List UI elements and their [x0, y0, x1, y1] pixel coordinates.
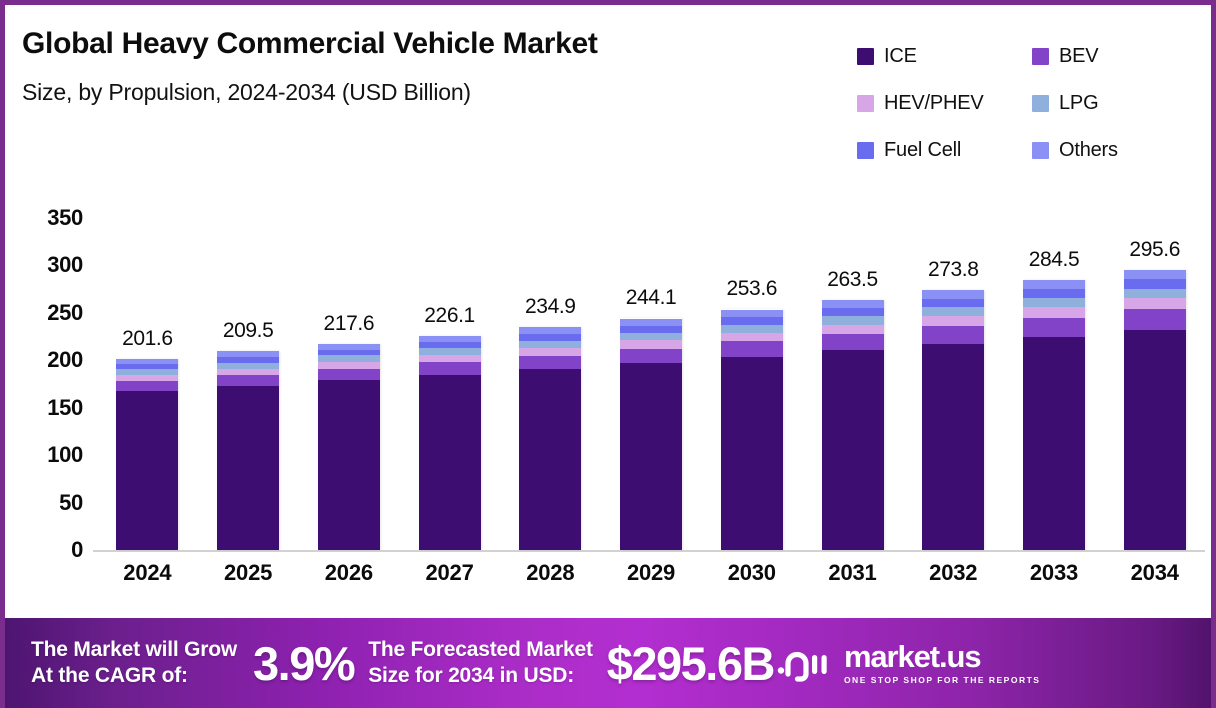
- forecast-label: The Forecasted Market Size for 2034 in U…: [368, 637, 593, 688]
- legend-swatch-icon: [1032, 48, 1049, 65]
- bar-column[interactable]: 244.1: [601, 200, 702, 550]
- brand-logo[interactable]: market.us ONE STOP SHOP FOR THE REPORTS: [776, 641, 1041, 685]
- cagr-label-line1: The Market will Grow: [31, 637, 237, 663]
- x-axis: 2024202520262027202820292030203120322033…: [97, 560, 1205, 586]
- bar-segment-lpg[interactable]: [620, 333, 682, 340]
- legend-item-lpg[interactable]: LPG: [1032, 80, 1207, 127]
- bar-segment-lpg[interactable]: [1023, 298, 1085, 307]
- bar-segment-ice[interactable]: [620, 363, 682, 550]
- bar-segment-others[interactable]: [922, 290, 984, 299]
- bar-column[interactable]: 295.6: [1104, 200, 1205, 550]
- bar-segment-others[interactable]: [721, 310, 783, 318]
- bar-segment-lpg[interactable]: [922, 307, 984, 316]
- x-axis-tick-label: 2034: [1104, 560, 1205, 586]
- x-axis-tick-label: 2031: [802, 560, 903, 586]
- bar-segment-ice[interactable]: [822, 350, 884, 550]
- bar-segment-hev-phev[interactable]: [822, 325, 884, 334]
- bar-segment-bev[interactable]: [1023, 318, 1085, 337]
- x-axis-tick-label: 2027: [399, 560, 500, 586]
- forecast-label-line2: Size for 2034 in USD:: [368, 663, 593, 689]
- bar-value-label: 226.1: [399, 304, 500, 328]
- legend-swatch-icon: [857, 48, 874, 65]
- cagr-label: The Market will Grow At the CAGR of:: [31, 637, 237, 688]
- bar-segment-hev-phev[interactable]: [1023, 307, 1085, 317]
- brand-text: market.us ONE STOP SHOP FOR THE REPORTS: [844, 641, 1041, 685]
- bar-column[interactable]: 226.1: [399, 200, 500, 550]
- y-axis-tick-label: 200: [47, 347, 83, 373]
- y-axis: 350300250200150100500: [15, 200, 83, 545]
- bar-segment-lpg[interactable]: [419, 348, 481, 355]
- bar-segment-hev-phev[interactable]: [1124, 298, 1186, 309]
- bar-segment-lpg[interactable]: [721, 325, 783, 333]
- y-axis-tick-label: 100: [47, 442, 83, 468]
- bar-segment-hev-phev[interactable]: [519, 348, 581, 356]
- bar-column[interactable]: 273.8: [903, 200, 1004, 550]
- bar-column[interactable]: 284.5: [1004, 200, 1105, 550]
- forecast-value: $295.6B: [607, 636, 774, 691]
- bar-segment-others[interactable]: [519, 327, 581, 334]
- bar-segment-others[interactable]: [620, 319, 682, 326]
- x-axis-tick-label: 2028: [500, 560, 601, 586]
- legend-item-label: LPG: [1059, 92, 1098, 115]
- bar-segment-ice[interactable]: [1124, 330, 1186, 550]
- bar-segment-bev[interactable]: [822, 334, 884, 351]
- bar-stack[interactable]: [318, 344, 380, 550]
- y-axis-tick-label: 300: [47, 252, 83, 278]
- legend-item-label: Others: [1059, 139, 1118, 162]
- bar-segment-ice[interactable]: [116, 391, 178, 550]
- bar-stack[interactable]: [620, 318, 682, 550]
- cagr-value: 3.9%: [253, 636, 354, 691]
- infographic-root: Global Heavy Commercial Vehicle Market S…: [0, 0, 1216, 708]
- bar-segment-lpg[interactable]: [1124, 289, 1186, 298]
- bar-column[interactable]: 263.5: [802, 200, 903, 550]
- bar-segment-ice[interactable]: [721, 357, 783, 550]
- page-subtitle: Size, by Propulsion, 2024-2034 (USD Bill…: [22, 79, 471, 106]
- bar-segment-ice[interactable]: [318, 380, 380, 550]
- bar-stack[interactable]: [721, 309, 783, 550]
- bar-segment-bev[interactable]: [217, 375, 279, 386]
- y-axis-tick-label: 0: [71, 537, 83, 563]
- bar-stack[interactable]: [822, 300, 884, 550]
- x-axis-tick-label: 2025: [198, 560, 299, 586]
- bar-segment-bev[interactable]: [318, 369, 380, 381]
- bar-segment-hev-phev[interactable]: [922, 316, 984, 326]
- bar-segment-bev[interactable]: [922, 326, 984, 344]
- bar-value-label: 244.1: [601, 286, 702, 310]
- bar-value-label: 263.5: [802, 268, 903, 292]
- legend-item-label: HEV/PHEV: [884, 92, 984, 115]
- bar-value-label: 234.9: [500, 295, 601, 319]
- bar-segment-ice[interactable]: [1023, 337, 1085, 550]
- bar-column[interactable]: 253.6: [701, 200, 802, 550]
- legend-swatch-icon: [857, 142, 874, 159]
- bar-series-container: 201.6209.5217.6226.1234.9244.1253.6263.5…: [97, 200, 1205, 550]
- legend-item-others[interactable]: Others: [1032, 127, 1207, 174]
- legend-item-hev-phev[interactable]: HEV/PHEV: [857, 80, 1032, 127]
- y-axis-tick-label: 250: [47, 300, 83, 326]
- bar-segment-bev[interactable]: [620, 349, 682, 363]
- bar-segment-ice[interactable]: [519, 369, 581, 550]
- bar-column[interactable]: 209.5: [198, 200, 299, 550]
- bar-column[interactable]: 217.6: [298, 200, 399, 550]
- page-title: Global Heavy Commercial Vehicle Market: [22, 27, 598, 61]
- bar-segment-fuel-cell[interactable]: [1124, 279, 1186, 289]
- bar-segment-hev-phev[interactable]: [721, 333, 783, 342]
- brand-name: market.us: [844, 641, 1041, 672]
- bar-segment-fuel-cell[interactable]: [922, 299, 984, 307]
- footer-banner: The Market will Grow At the CAGR of: 3.9…: [5, 618, 1216, 708]
- bar-value-label: 284.5: [1004, 248, 1105, 272]
- bar-segment-ice[interactable]: [922, 344, 984, 550]
- bar-segment-lpg[interactable]: [822, 316, 884, 324]
- bar-segment-others[interactable]: [822, 300, 884, 308]
- bar-segment-ice[interactable]: [419, 375, 481, 550]
- bar-value-label: 295.6: [1104, 238, 1205, 262]
- x-axis-tick-label: 2033: [1004, 560, 1105, 586]
- bar-segment-bev[interactable]: [116, 381, 178, 391]
- legend-item-label: ICE: [884, 45, 917, 68]
- bar-value-label: 217.6: [298, 312, 399, 336]
- bar-value-label: 253.6: [701, 277, 802, 301]
- bar-stack[interactable]: [1124, 270, 1186, 550]
- chart-legend: ICEBEVHEV/PHEVLPGFuel CellOthers: [857, 33, 1207, 174]
- legend-item-bev[interactable]: BEV: [1032, 33, 1207, 80]
- bar-segment-fuel-cell[interactable]: [822, 308, 884, 316]
- bar-stack[interactable]: [419, 336, 481, 550]
- bar-column[interactable]: 234.9: [500, 200, 601, 550]
- chart-header: Global Heavy Commercial Vehicle Market S…: [5, 5, 1211, 175]
- y-axis-tick-label: 150: [47, 395, 83, 421]
- bar-value-label: 273.8: [903, 258, 1004, 282]
- market-us-logo-icon: [776, 643, 834, 683]
- bar-stack[interactable]: [519, 327, 581, 550]
- bar-stack[interactable]: [922, 290, 984, 550]
- bar-column[interactable]: 201.6: [97, 200, 198, 550]
- bar-value-label: 209.5: [198, 319, 299, 343]
- bar-segment-fuel-cell[interactable]: [1023, 289, 1085, 298]
- bar-value-label: 201.6: [97, 327, 198, 351]
- y-axis-tick-label: 50: [59, 490, 83, 516]
- legend-item-fuel-cell[interactable]: Fuel Cell: [857, 127, 1032, 174]
- bar-segment-hev-phev[interactable]: [318, 362, 380, 369]
- forecast-label-line1: The Forecasted Market: [368, 637, 593, 663]
- chart-plot-area: 350300250200150100500 201.6209.5217.6226…: [5, 200, 1216, 615]
- bar-segment-hev-phev[interactable]: [419, 355, 481, 362]
- cagr-label-line2: At the CAGR of:: [31, 663, 237, 689]
- x-axis-tick-label: 2029: [601, 560, 702, 586]
- y-axis-tick-label: 350: [47, 205, 83, 231]
- bar-segment-others[interactable]: [1023, 280, 1085, 289]
- x-axis-baseline: [93, 550, 1205, 552]
- legend-swatch-icon: [1032, 142, 1049, 159]
- x-axis-tick-label: 2026: [298, 560, 399, 586]
- bar-segment-bev[interactable]: [419, 362, 481, 374]
- bar-segment-fuel-cell[interactable]: [519, 334, 581, 341]
- bar-segment-others[interactable]: [1124, 270, 1186, 279]
- bar-segment-bev[interactable]: [519, 356, 581, 369]
- bar-stack[interactable]: [1023, 280, 1085, 550]
- x-axis-tick-label: 2030: [701, 560, 802, 586]
- bar-segment-lpg[interactable]: [519, 341, 581, 348]
- bar-segment-bev[interactable]: [1124, 309, 1186, 330]
- bar-stack[interactable]: [116, 359, 178, 550]
- x-axis-tick-label: 2032: [903, 560, 1004, 586]
- bar-segment-ice[interactable]: [217, 386, 279, 550]
- bar-segment-bev[interactable]: [721, 341, 783, 357]
- legend-swatch-icon: [1032, 95, 1049, 112]
- x-axis-tick-label: 2024: [97, 560, 198, 586]
- legend-swatch-icon: [857, 95, 874, 112]
- legend-item-label: Fuel Cell: [884, 139, 961, 162]
- bar-segment-hev-phev[interactable]: [620, 340, 682, 348]
- bar-stack[interactable]: [217, 351, 279, 550]
- bar-segment-fuel-cell[interactable]: [620, 326, 682, 333]
- brand-tagline: ONE STOP SHOP FOR THE REPORTS: [844, 676, 1041, 685]
- legend-item-label: BEV: [1059, 45, 1098, 68]
- legend-item-ice[interactable]: ICE: [857, 33, 1032, 80]
- bar-segment-fuel-cell[interactable]: [721, 317, 783, 324]
